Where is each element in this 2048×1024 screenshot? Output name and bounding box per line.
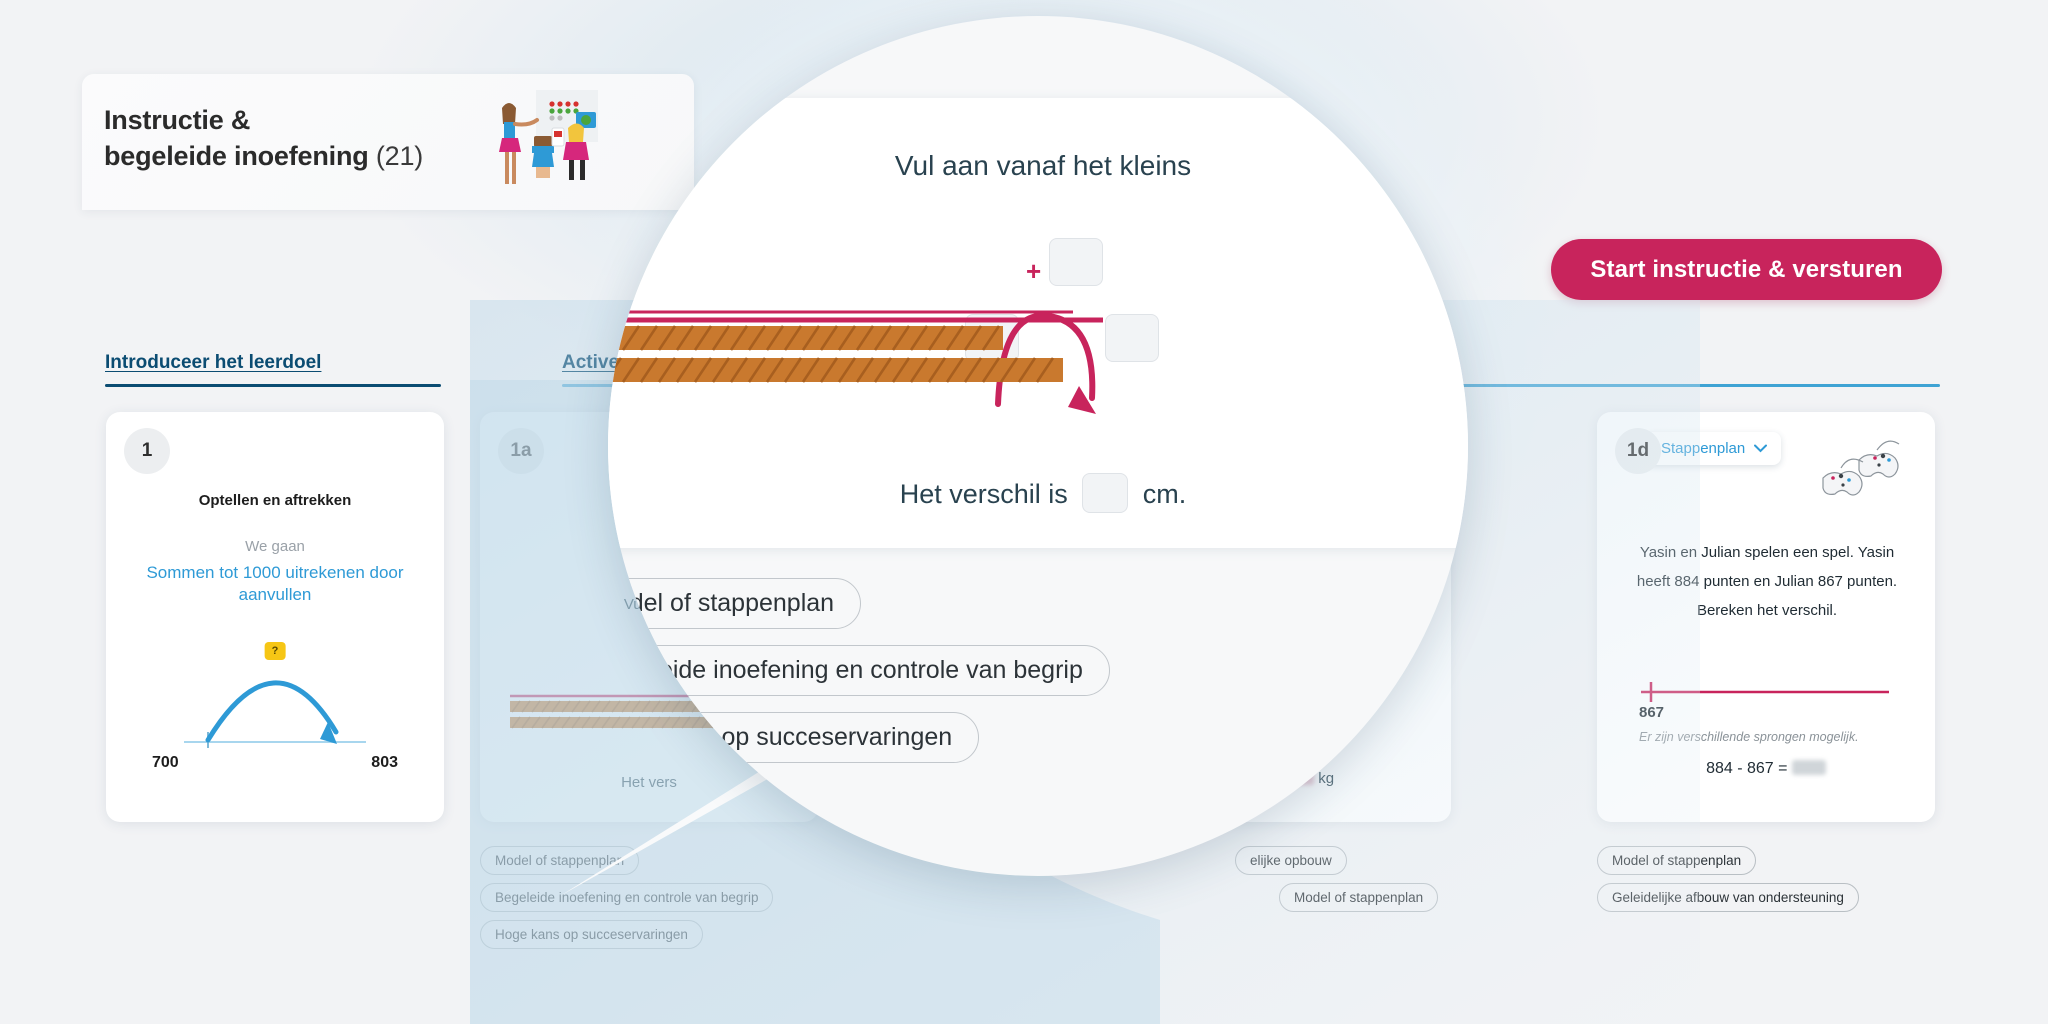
numberline-end: 803 xyxy=(371,754,398,772)
tag-pill[interactable]: elijke opbouw xyxy=(1235,846,1347,875)
answer-placeholder[interactable] xyxy=(1792,760,1826,775)
tab-rule-1 xyxy=(105,384,441,387)
tag-pill[interactable]: Geleidelijke afbouw van ondersteuning xyxy=(1597,883,1859,912)
tag-list-card-1d: Model of stappenplan Geleidelijke afbouw… xyxy=(1597,846,1859,912)
lesson-card-1[interactable]: 1 Optellen en aftrekken We gaan Sommen t… xyxy=(106,412,444,822)
numberline-start-label: 867 xyxy=(1639,704,1664,721)
card-sum-expression: 884 - 867 = xyxy=(1706,760,1787,777)
answer-input-top[interactable] xyxy=(1049,238,1103,286)
card-sum-text: 884 - 867 = xyxy=(1597,760,1935,778)
page-title: Instructie & begeleide inoefening (21) xyxy=(104,102,423,174)
result-prefix: Het verschil is xyxy=(900,479,1068,509)
game-controllers-illustration xyxy=(1815,438,1911,508)
numberline-jump-arc xyxy=(180,644,370,754)
magnified-result-line: Het verschil is cm. xyxy=(608,473,1468,513)
lesson-card-1d[interactable]: 1d Stappenplan Yasin en Julian spelen ee… xyxy=(1597,412,1935,822)
page-title-line1: Instructie & xyxy=(104,105,250,135)
step-badge: 1d xyxy=(1615,428,1661,474)
page-title-line2: begeleide inoefening xyxy=(104,141,369,171)
result-suffix: cm. xyxy=(1143,479,1187,509)
tag-pill[interactable]: Model of stappenplan xyxy=(1597,846,1756,875)
card-learning-goal: Sommen tot 1000 uitrekenen door aanvulle… xyxy=(128,562,422,606)
plus-sign: + xyxy=(1026,256,1041,287)
magnified-exercise-panel: Vul aan vanaf het kleins + Het verschil … xyxy=(608,98,1468,548)
chevron-down-icon xyxy=(1754,444,1767,453)
tag-pill[interactable]: Model of stappenplan xyxy=(1279,883,1438,912)
tag-pill[interactable]: Hoge kans op succeservaringen xyxy=(480,920,703,949)
magnified-heading: Vul aan vanaf het kleins xyxy=(608,150,1468,182)
magnified-tag-list: Model of stappenplan Begeleide inoefenin… xyxy=(608,578,1110,763)
magnified-rope-bars-diagram xyxy=(608,294,1468,474)
numberline xyxy=(1637,678,1893,712)
step-badge: 1a xyxy=(498,428,544,474)
tag-pill[interactable]: Hoge kans op succeservaringen xyxy=(608,712,979,763)
tag-pill[interactable]: Model of stappenplan xyxy=(608,578,861,629)
numberline-start: 700 xyxy=(152,754,179,772)
card-subject: Optellen en aftrekken xyxy=(106,492,444,509)
stappenplan-dropdown[interactable]: Stappenplan xyxy=(1645,432,1781,465)
step-badge: 1 xyxy=(124,428,170,474)
tab-introduceer-het-leerdoel[interactable]: Introduceer het leerdoel xyxy=(105,352,321,381)
stappenplan-dropdown-label: Stappenplan xyxy=(1661,440,1745,457)
page-title-count: (21) xyxy=(376,141,423,171)
tag-pill[interactable]: Begeleide inoefening en controle van beg… xyxy=(608,645,1110,696)
numberline-labels: 700 803 xyxy=(152,754,398,772)
magnifier-bubble: Vul aan vanaf het kleins + Het verschil … xyxy=(608,16,1468,876)
teacher-classroom-illustration xyxy=(490,84,620,204)
card-hint-note: Er zijn verschillende sprongen mogelijk. xyxy=(1639,730,1859,744)
card-sum-suffix: kg xyxy=(1318,770,1334,787)
answer-input-result[interactable] xyxy=(1082,473,1128,513)
card-problem-text: Yasin en Julian spelen een spel. Yasin h… xyxy=(1625,538,1909,625)
header-card: Instructie & begeleide inoefening (21) xyxy=(82,74,694,210)
start-instructie-button[interactable]: Start instructie & versturen xyxy=(1551,239,1942,300)
card-intro-text: We gaan xyxy=(106,538,444,555)
